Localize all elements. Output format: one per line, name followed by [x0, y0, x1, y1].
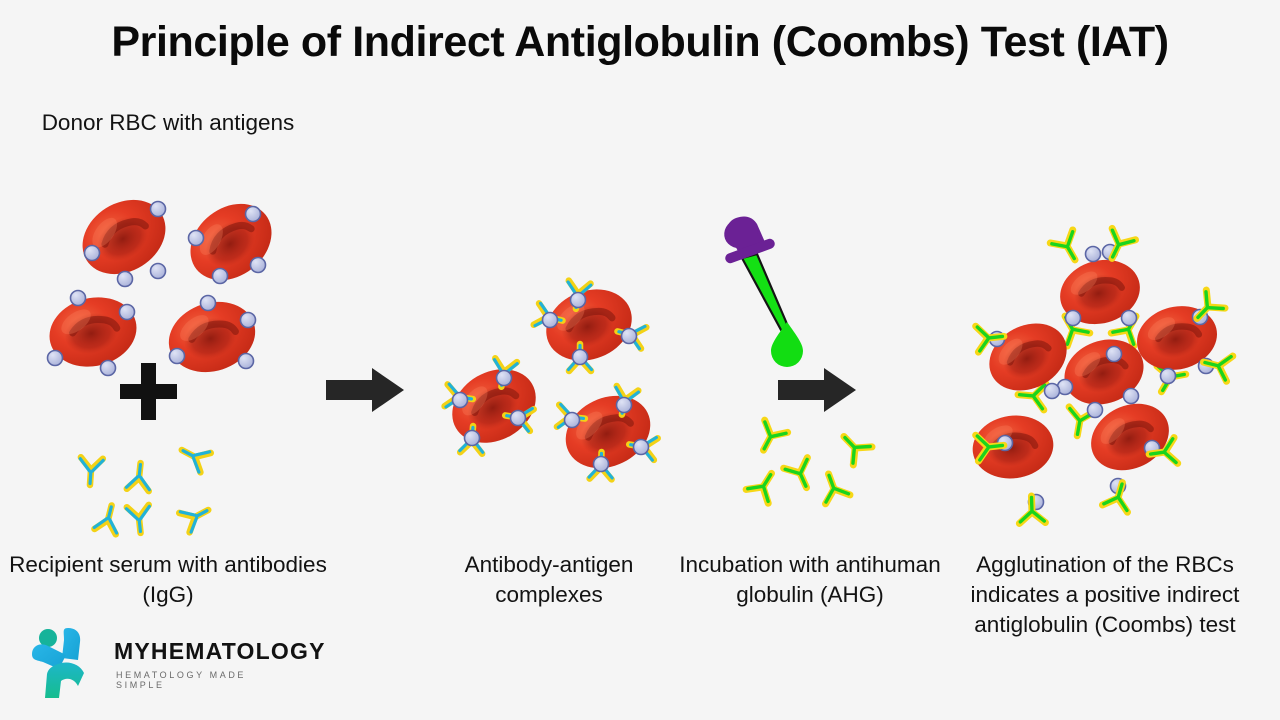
antigen-antibody-pair-2d: [460, 425, 485, 454]
rbc-agglut-3: [978, 310, 1079, 403]
igg-antibody-4: [126, 505, 152, 534]
rbc-donor-1: [69, 185, 180, 289]
rbc-complex-1: [535, 277, 642, 373]
antigen-group-donor-4: [170, 296, 256, 369]
antigen-antibody-pair-3a: [557, 404, 586, 430]
plus-sign: [120, 363, 177, 420]
myhematology-logo-icon: [28, 624, 94, 702]
antigen-antibody-pair-1a: [565, 281, 592, 311]
rbc-complex-2: [439, 355, 549, 458]
arrow-step-1: [326, 368, 404, 412]
igg-antibody-3: [126, 462, 152, 491]
rbc-agglut-6: [1080, 391, 1180, 483]
bridging-ahg-4: [1017, 382, 1046, 410]
igg-antibody-5: [179, 500, 214, 533]
logo-wordmark: MYHEMATOLOGY: [114, 638, 326, 665]
rbc-agglut-2: [1130, 298, 1224, 378]
arrow-step-2: [778, 368, 856, 412]
caption-agglutination: Agglutination of the RBCs indicates a po…: [940, 550, 1270, 640]
logo-tagline: HEMATOLOGY MADE SIMPLE: [116, 670, 298, 690]
ahg-antibody-1: [752, 420, 788, 456]
antigen-antibody-pair-3d: [589, 452, 613, 480]
ahg-antibody-4: [746, 467, 782, 504]
antigen-antibody-pair-2c: [503, 404, 534, 431]
rbc-agglut-1: [1052, 251, 1147, 333]
agglut-surface-markers: [990, 245, 1214, 510]
ahg-antibody-2: [784, 458, 819, 493]
panel-recipient-serum: [78, 440, 213, 535]
free-ahg-top-left: [1050, 230, 1086, 266]
bridging-ahg-1: [1054, 310, 1090, 346]
ahg-antibody-3: [835, 427, 872, 464]
antigen-antibody-pair-1d: [569, 344, 592, 371]
rbc-complex-3: [554, 382, 663, 482]
antigen-antibody-pair-2b: [445, 384, 475, 411]
caption-incubation-ahg: Incubation with antihuman globulin (AHG): [676, 550, 944, 610]
antigen-antibody-pair-1c: [615, 320, 647, 349]
caption-recipient-serum: Recipient serum with antibodies (IgG): [8, 550, 328, 610]
diagram-canvas: Principle of Indirect Antiglobulin (Coom…: [0, 0, 1280, 720]
rbc-donor-4: [160, 291, 265, 383]
panel-antibody-antigen-complexes: [439, 277, 663, 482]
bridging-ahg-5: [1064, 407, 1094, 438]
antigen-group-donor-1: [85, 202, 166, 287]
bridging-ahg-2: [1111, 310, 1147, 346]
antigen-antibody-pair-2a: [490, 358, 517, 389]
bridging-ahg-3: [1157, 361, 1188, 391]
free-ahg-bottom-center: [1102, 479, 1134, 512]
panel-agglutination: [969, 228, 1233, 523]
caption-antibody-antigen-complexes: Antibody-antigen complexes: [420, 550, 678, 610]
brand-logo: MYHEMATOLOGY HEMATOLOGY MADE SIMPLE: [28, 624, 298, 704]
ahg-antibody-5: [816, 470, 850, 504]
rbc-donor-3: [42, 288, 144, 375]
antigen-group-donor-2: [189, 207, 266, 284]
igg-antibody-1: [78, 457, 103, 486]
free-ahg-left: [976, 323, 1006, 352]
antigen-antibody-pair-1b: [534, 303, 566, 332]
panel-ahg-incubation: [720, 213, 872, 504]
page-title: Principle of Indirect Antiglobulin (Coom…: [0, 18, 1280, 67]
antigen-antibody-pair-3b: [611, 386, 639, 417]
free-ahg-top-right: [1100, 228, 1135, 264]
rbc-donor-2: [175, 188, 286, 296]
igg-antibody-6: [94, 503, 123, 535]
free-ahg-bottom-right: [1147, 438, 1177, 468]
rbc-agglut-5: [969, 410, 1058, 483]
caption-donor-rbc: Donor RBC with antigens: [18, 108, 318, 138]
antigen-antibody-pair-3c: [627, 433, 658, 460]
ahg-droplet: [771, 322, 803, 367]
panel-donor-rbcs: [42, 185, 287, 383]
igg-antibody-2: [176, 440, 211, 473]
free-ahg-right-top: [1188, 290, 1225, 327]
rbc-agglut-4: [1055, 329, 1152, 415]
free-ahg-right-bottom: [1200, 350, 1232, 382]
free-ahg-bottom-left: [1018, 496, 1045, 524]
dropper-icon: [720, 213, 793, 341]
antigen-group-donor-3: [48, 291, 135, 376]
free-ahg-left-bottom: [976, 432, 1006, 461]
